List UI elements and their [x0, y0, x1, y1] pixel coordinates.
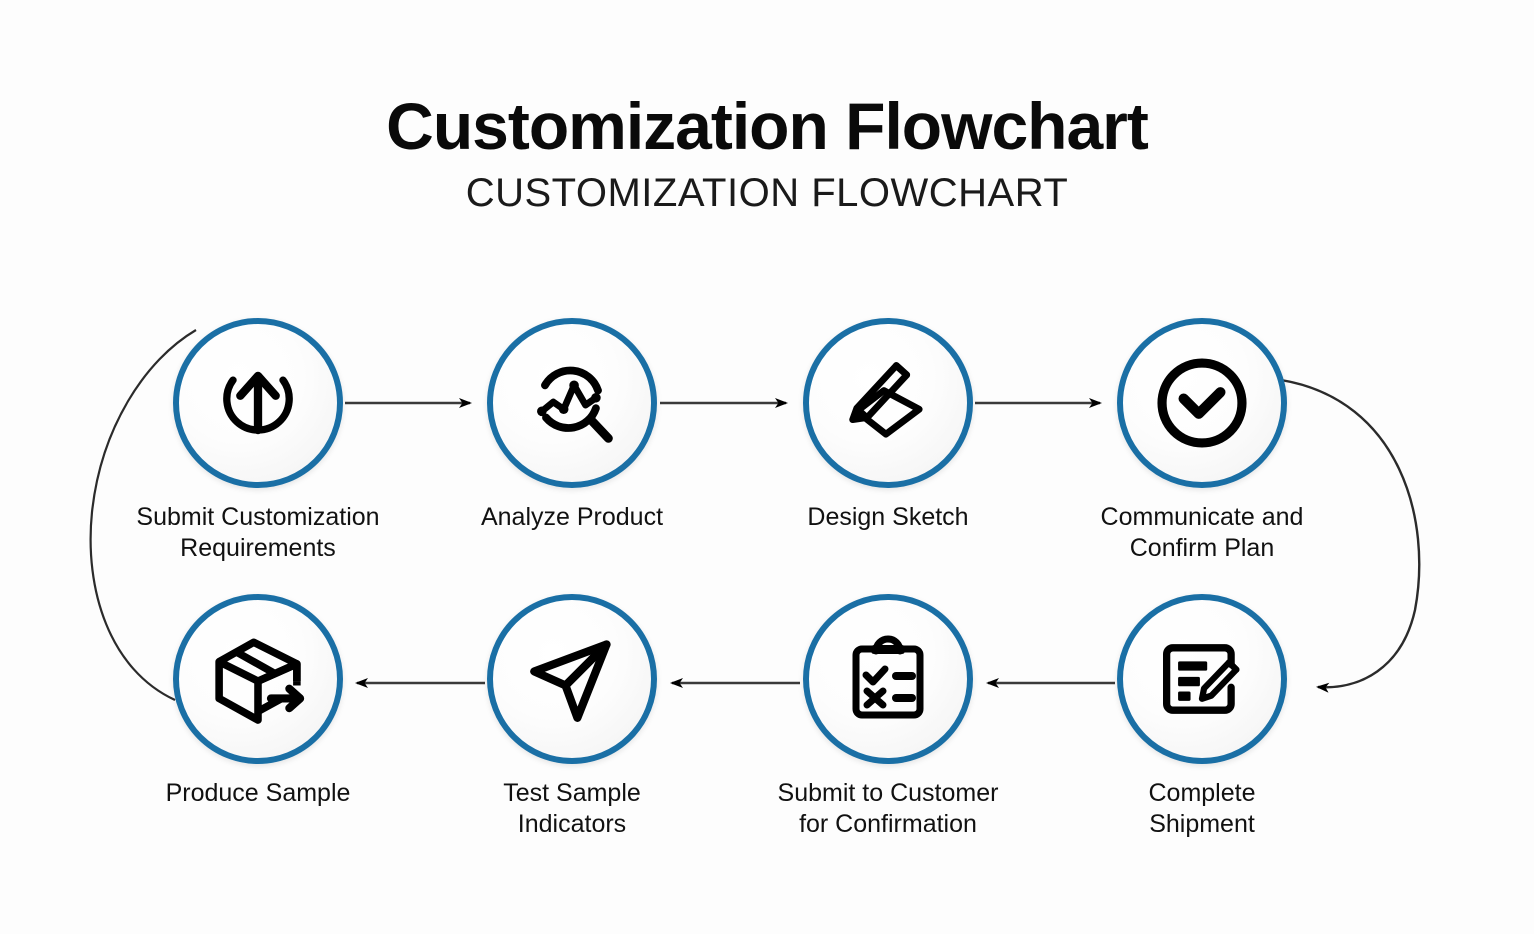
flow-node-complete-shipment[interactable]: Complete Shipment [1072, 594, 1332, 841]
flow-node-label: Test Sample Indicators [442, 778, 702, 841]
flow-node-communicate-and-confirm-plan[interactable]: Communicate and Confirm Plan [1072, 318, 1332, 565]
check-circle-icon [1148, 349, 1256, 457]
node-circle[interactable] [173, 318, 343, 488]
page-title: Customization Flowchart [0, 92, 1534, 161]
node-circle[interactable] [1117, 318, 1287, 488]
page-subtitle: CUSTOMIZATION FLOWCHART [0, 169, 1534, 217]
node-circle[interactable] [487, 318, 657, 488]
flow-node-label: Design Sketch [758, 502, 1018, 533]
package-box-arrow-icon [204, 625, 312, 733]
node-circle[interactable] [1117, 594, 1287, 764]
flow-node-label: Submit Customization Requirements [128, 502, 388, 565]
flow-node-design-sketch[interactable]: Design Sketch [758, 318, 1018, 533]
paper-plane-icon [518, 625, 626, 733]
flow-node-label: Submit to Customer for Confirmation [758, 778, 1018, 841]
flow-node-label: Produce Sample [128, 778, 388, 809]
title-block: Customization Flowchart CUSTOMIZATION FL… [0, 92, 1534, 217]
upload-arrow-up-circle-icon [206, 351, 310, 455]
node-circle[interactable] [487, 594, 657, 764]
node-circle[interactable] [803, 318, 973, 488]
clipboard-check-cross-icon [838, 629, 938, 729]
flow-node-label: Communicate and Confirm Plan [1072, 502, 1332, 565]
form-edit-pencil-icon [1150, 627, 1254, 731]
pencil-sketch-paper-icon [836, 351, 940, 455]
magnifier-chart-icon [520, 351, 624, 455]
flow-node-label: Complete Shipment [1072, 778, 1332, 841]
flow-node-produce-sample[interactable]: Produce Sample [128, 594, 388, 809]
flow-node-submit-to-customer-for-confirmation[interactable]: Submit to Customer for Confirmation [758, 594, 1018, 841]
node-circle[interactable] [803, 594, 973, 764]
flow-node-label: Analyze Product [442, 502, 702, 533]
flow-node-submit-customization-requirements[interactable]: Submit Customization Requirements [128, 318, 388, 565]
node-circle[interactable] [173, 594, 343, 764]
flow-node-test-sample-indicators[interactable]: Test Sample Indicators [442, 594, 702, 841]
flow-node-analyze-product[interactable]: Analyze Product [442, 318, 702, 533]
flowchart-canvas: Customization Flowchart CUSTOMIZATION FL… [0, 0, 1534, 934]
